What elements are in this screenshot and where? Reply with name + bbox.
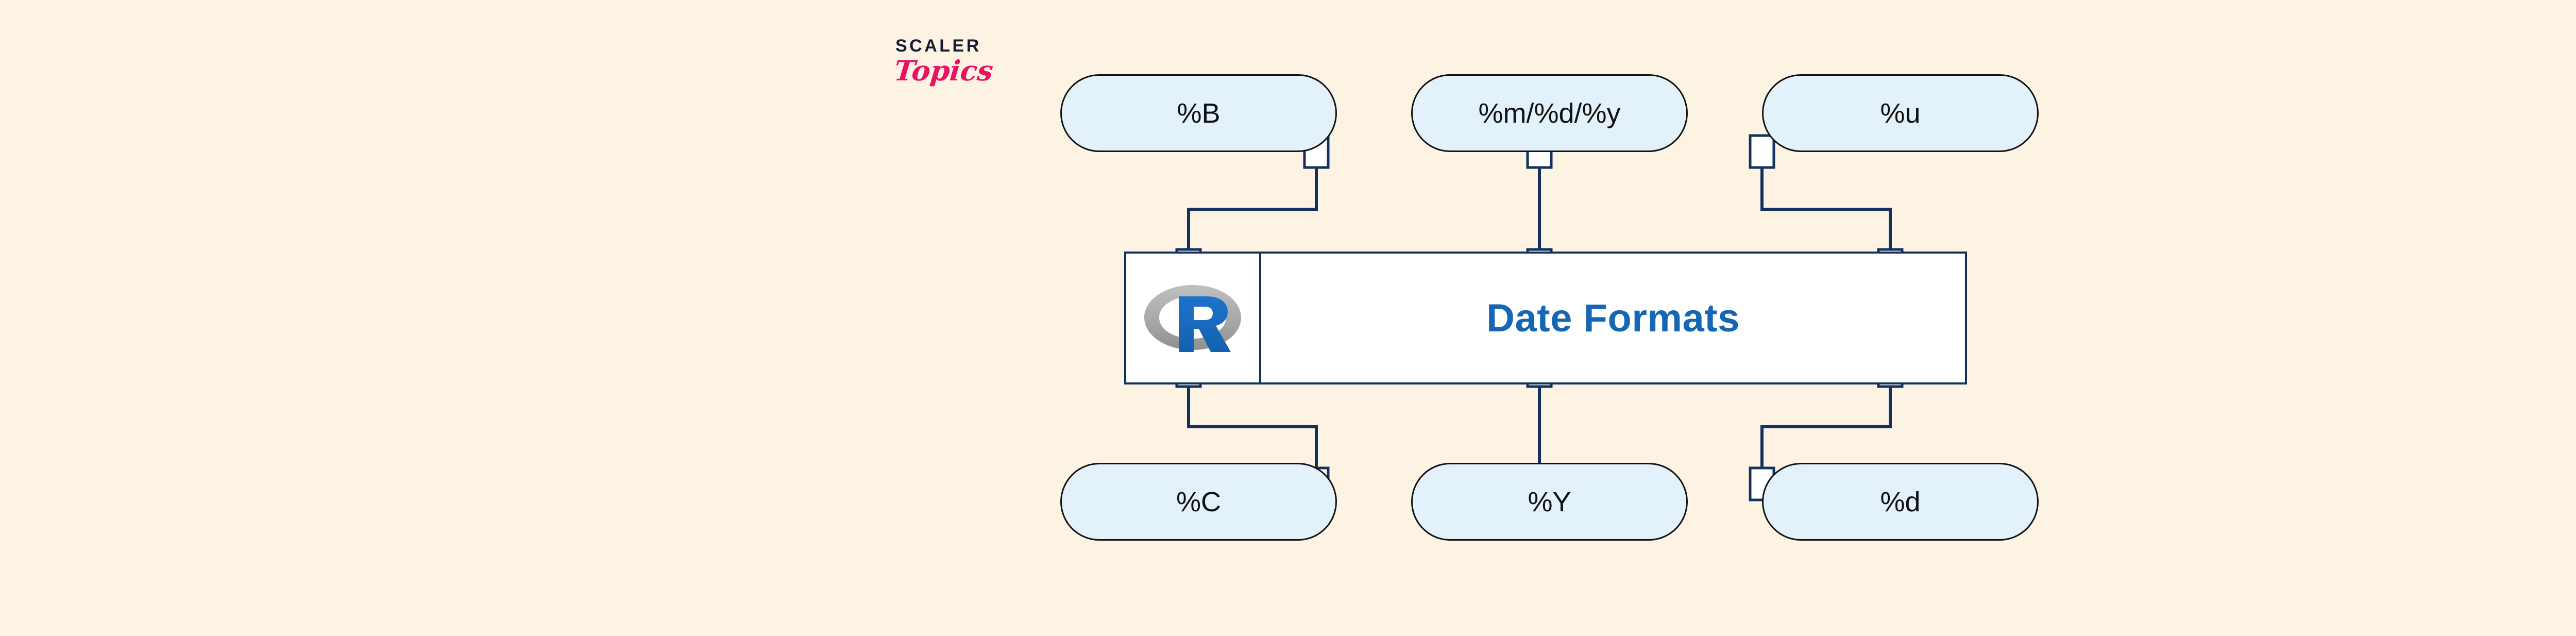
format-node-bottom-3[interactable]: %d — [1762, 463, 2039, 541]
format-node-bottom-2[interactable]: %Y — [1411, 463, 1688, 541]
r-logo-cell — [1126, 254, 1261, 382]
scaler-topics-logo: SCALER Topics — [895, 37, 1050, 114]
diagram-canvas: SCALER Topics — [0, 0, 2576, 636]
brand-wordmark-topics: Topics — [893, 57, 1052, 85]
format-node-top-1[interactable]: %B — [1060, 74, 1337, 152]
center-title-cell: Date Formats — [1261, 254, 1965, 382]
format-node-bottom-1[interactable]: %C — [1060, 463, 1337, 541]
connector-top-left — [1189, 152, 1316, 268]
format-node-label: %C — [1176, 486, 1221, 518]
format-node-label: %d — [1880, 486, 1920, 518]
brand-wordmark-scaler: SCALER — [895, 37, 1050, 55]
center-hub-box[interactable]: Date Formats — [1124, 252, 1967, 384]
format-node-label: %Y — [1528, 486, 1571, 518]
connector-top-right — [1762, 152, 1890, 268]
r-language-logo-icon — [1142, 277, 1243, 359]
format-node-label: %m/%d/%y — [1478, 97, 1620, 129]
format-node-top-2[interactable]: %m/%d/%y — [1411, 74, 1688, 152]
format-node-top-3[interactable]: %u — [1762, 74, 2039, 152]
port-node-top-right — [1750, 136, 1774, 168]
format-node-label: %B — [1177, 97, 1220, 129]
format-node-label: %u — [1880, 97, 1920, 129]
page-title: Date Formats — [1486, 296, 1740, 341]
